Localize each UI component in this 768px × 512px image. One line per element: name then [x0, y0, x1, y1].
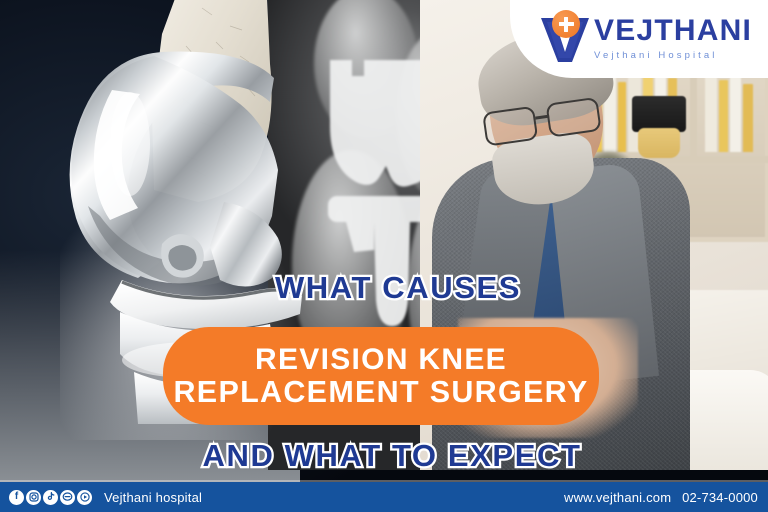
cross-vertical: [564, 17, 568, 32]
line-icon[interactable]: [60, 490, 75, 505]
footer-contact: www.vejthani.com 02-734-0000: [564, 490, 758, 505]
youtube-icon[interactable]: [77, 490, 92, 505]
vejthani-logo[interactable]: VEJTHANI Vejthani Hospital: [538, 12, 752, 64]
tiktok-icon[interactable]: [43, 490, 58, 505]
logo-v-mark: [538, 12, 592, 64]
instagram-icon[interactable]: [26, 490, 41, 505]
footer-bar: f Vejthani hospital www.vejthani.com 02-…: [0, 482, 768, 512]
pill-line-2: REPLACEMENT SURGERY: [173, 376, 588, 408]
pill-line-1: REVISION KNEE: [255, 344, 507, 376]
medical-cross-icon: [552, 10, 580, 38]
footer-page-name: Vejthani hospital: [104, 490, 202, 505]
headline-pill: REVISION KNEE REPLACEMENT SURGERY: [163, 327, 599, 425]
footer-phone[interactable]: 02-734-0000: [682, 490, 758, 505]
logo-wordmark: VEJTHANI: [594, 16, 752, 46]
facebook-icon[interactable]: f: [9, 490, 24, 505]
footer-website[interactable]: www.vejthani.com: [564, 490, 671, 505]
headline-block: WHAT CAUSES REVISION KNEE REPLACEMENT SU…: [0, 272, 768, 303]
headline-line-top: WHAT CAUSES: [28, 272, 768, 303]
logo-tagline: Vejthani Hospital: [594, 51, 752, 61]
glasses-lens-right: [545, 97, 601, 138]
footer-left: f Vejthani hospital: [9, 490, 202, 505]
logo-text-block: VEJTHANI Vejthani Hospital: [594, 12, 752, 61]
logo-panel: VEJTHANI Vejthani Hospital: [510, 0, 768, 78]
social-icon-row: f: [9, 490, 92, 505]
headline-line-bottom: AND WHAT TO EXPECT: [8, 440, 768, 471]
promotional-banner: VEJTHANI Vejthani Hospital WHAT CAUSES R…: [0, 0, 768, 512]
glasses-lens-left: [482, 106, 538, 147]
